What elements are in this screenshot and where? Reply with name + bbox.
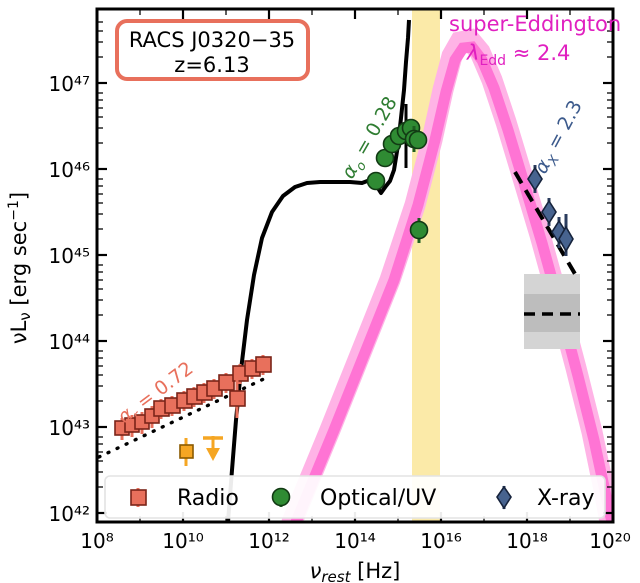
legend-label-xray: X-ray [537, 486, 594, 511]
x-tick-label: 10¹⁶ [420, 529, 461, 553]
y-tick-label: 10⁴⁶ [49, 158, 90, 182]
x-tick-label: 10²⁰ [589, 529, 630, 553]
data-point-radio [256, 355, 271, 375]
y-axis-label-nu: ν [7, 332, 31, 344]
y-axis-label: νLν [erg sec−1] [6, 192, 34, 344]
plot-background [97, 9, 613, 522]
y-tick-label: 10⁴⁵ [49, 244, 90, 268]
radio-marker-icon [131, 490, 146, 505]
edd-subscript: Edd [479, 53, 506, 69]
super-eddington-text: super-Eddington [449, 12, 621, 36]
x-axis-label-symbol: ν [310, 559, 322, 583]
x-tick-label: 10¹⁴ [334, 529, 375, 553]
sed-plot-svg: 10⁸ 10¹⁰ 10¹² 10¹⁴ 10¹⁶ 10¹⁸ 10²⁰ 10⁴² 1… [0, 0, 640, 583]
lambda-symbol: λ [466, 41, 479, 65]
x-axis-tick-labels: 10⁸ 10¹⁰ 10¹² 10¹⁴ 10¹⁶ 10¹⁸ 10²⁰ [80, 529, 630, 553]
x-tick-label: 10⁸ [80, 529, 113, 553]
sed-figure: 10⁸ 10¹⁰ 10¹² 10¹⁴ 10¹⁶ 10¹⁸ 10²⁰ 10⁴² 1… [0, 0, 640, 583]
title-target-name: RACS J0320−35 [129, 28, 295, 52]
data-point-radio [219, 373, 234, 393]
data-point-optical [368, 172, 385, 190]
legend-label-optical: Optical/UV [320, 486, 436, 511]
data-point-optical [410, 131, 427, 149]
legend-label-radio: Radio [177, 486, 239, 511]
x-tick-label: 10¹⁸ [506, 529, 547, 553]
y-tick-label: 10⁴² [49, 502, 90, 526]
y-axis-tick-labels: 10⁴² 10⁴³ 10⁴⁴ 10⁴⁵ 10⁴⁶ 10⁴⁷ [49, 72, 90, 526]
x-tick-label: 10¹⁰ [162, 529, 203, 553]
y-axis-label-unit: [erg sec [7, 221, 31, 306]
x-tick-label: 10¹² [248, 529, 289, 553]
y-tick-label: 10⁴⁴ [49, 330, 90, 354]
edd-value: ≈ 2.4 [513, 41, 571, 65]
y-axis-label-exp: −1 [6, 200, 22, 221]
y-axis-label-close: ] [7, 192, 31, 200]
title-redshift: z=6.13 [174, 53, 249, 77]
legend: Radio Optical/UV X-ray [105, 476, 605, 518]
y-axis-label-L: L [7, 320, 31, 332]
title-box: RACS J0320−35 z=6.13 [117, 21, 308, 79]
xray-uncertainty-box [524, 274, 580, 349]
x-axis-label: νrest [Hz] [310, 559, 401, 583]
x-axis-label-sub: rest [321, 568, 351, 583]
y-tick-label: 10⁴³ [49, 416, 90, 440]
svg-text:νLν [erg sec−1]: νLν [erg sec−1] [6, 192, 34, 344]
y-tick-label: 10⁴⁷ [49, 72, 90, 96]
x-axis-label-unit: [Hz] [357, 559, 400, 583]
optical-marker-icon [273, 489, 290, 506]
y-axis-label-subnu: ν [16, 312, 34, 320]
svg-text:νrest [Hz]: νrest [Hz] [310, 559, 401, 583]
